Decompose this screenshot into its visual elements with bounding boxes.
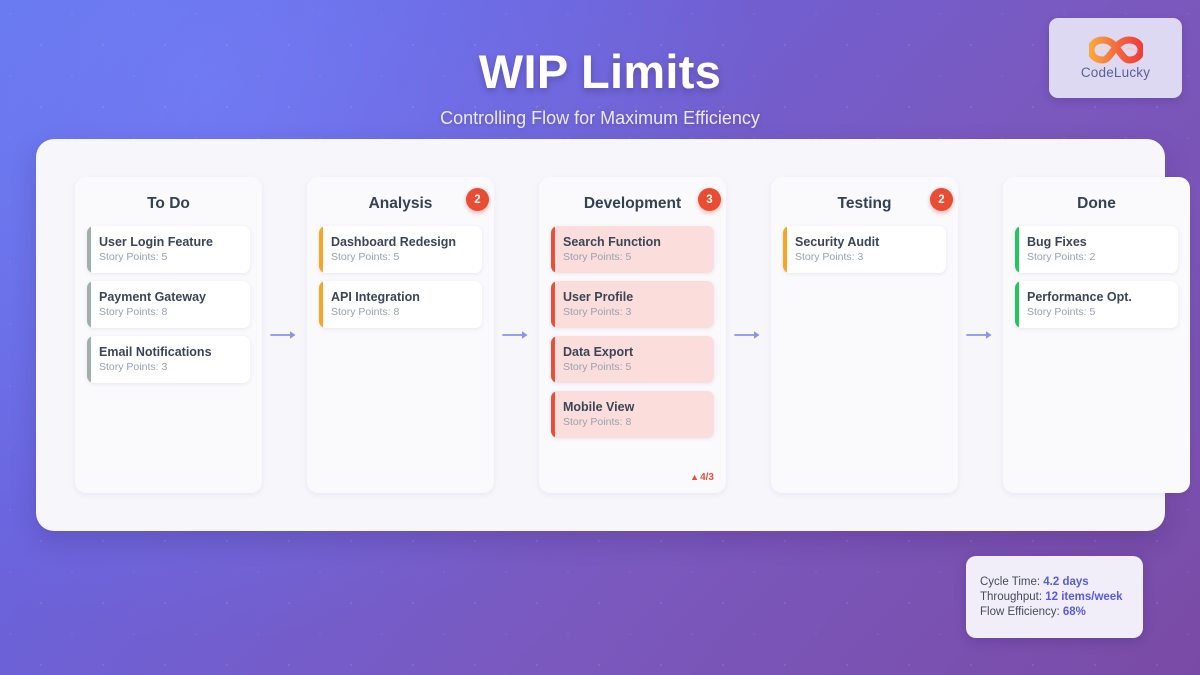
card-title: Payment Gateway (99, 290, 240, 304)
column-header: Testing 2 (783, 189, 946, 219)
kanban-columns: To Do User Login Feature Story Points: 5… (75, 177, 1130, 493)
kanban-card[interactable]: Mobile View Story Points: 8 (551, 391, 714, 438)
kanban-card[interactable]: User Login Feature Story Points: 5 (87, 226, 250, 273)
column-title: To Do (147, 195, 190, 213)
card-list: User Login Feature Story Points: 5 Payme… (87, 226, 250, 383)
kanban-card[interactable]: Dashboard Redesign Story Points: 5 (319, 226, 482, 273)
metric-value: 4.2 days (1043, 576, 1088, 588)
card-list: Bug Fixes Story Points: 2 Performance Op… (1015, 226, 1178, 328)
card-story-points: Story Points: 8 (563, 416, 704, 428)
flow-arrow-3 (726, 177, 771, 493)
card-story-points: Story Points: 5 (331, 251, 472, 263)
card-list: Security Audit Story Points: 3 (783, 226, 946, 273)
kanban-column-testing[interactable]: Testing 2 Security Audit Story Points: 3 (771, 177, 958, 493)
flow-arrow-4 (958, 177, 1003, 493)
kanban-card[interactable]: Bug Fixes Story Points: 2 (1015, 226, 1178, 273)
metric-label: Cycle Time: (980, 576, 1040, 588)
card-story-points: Story Points: 3 (99, 361, 240, 373)
card-list: Search Function Story Points: 5 User Pro… (551, 226, 714, 438)
column-title: Analysis (369, 195, 433, 213)
flow-arrow-1 (262, 177, 307, 493)
column-title: Development (584, 195, 681, 213)
card-title: Security Audit (795, 235, 936, 249)
kanban-card[interactable]: Data Export Story Points: 5 (551, 336, 714, 383)
warning-triangle-icon: ▲ (690, 472, 699, 482)
kanban-card[interactable]: API Integration Story Points: 8 (319, 281, 482, 328)
wip-exceeded-ratio: 4/3 (700, 472, 714, 483)
kanban-board: To Do User Login Feature Story Points: 5… (36, 139, 1165, 531)
card-story-points: Story Points: 5 (563, 361, 704, 373)
column-title: Done (1077, 195, 1116, 213)
metric-label: Flow Efficiency: (980, 606, 1060, 618)
card-title: Bug Fixes (1027, 235, 1168, 249)
wip-limit-badge: 3 (698, 188, 721, 211)
flow-arrow-icon (502, 329, 532, 341)
page-subtitle: Controlling Flow for Maximum Efficiency (0, 108, 1200, 129)
card-story-points: Story Points: 5 (1027, 306, 1168, 318)
card-title: User Profile (563, 290, 704, 304)
metric-label: Throughput: (980, 591, 1042, 603)
card-story-points: Story Points: 5 (563, 251, 704, 263)
card-story-points: Story Points: 3 (795, 251, 936, 263)
column-wrap-testing: Testing 2 Security Audit Story Points: 3 (771, 177, 958, 493)
kanban-card[interactable]: Email Notifications Story Points: 3 (87, 336, 250, 383)
wip-exceeded-warning: ▲4/3 (551, 466, 714, 483)
card-story-points: Story Points: 8 (331, 306, 472, 318)
brand-wordmark: CodeLucky (1081, 65, 1150, 80)
infinity-icon (1089, 36, 1143, 64)
column-title: Testing (838, 195, 892, 213)
metric-cycle-time: Cycle Time: 4.2 days (980, 576, 1129, 588)
flow-arrow-icon (966, 329, 996, 341)
card-title: Data Export (563, 345, 704, 359)
kanban-card[interactable]: User Profile Story Points: 3 (551, 281, 714, 328)
kanban-card[interactable]: Search Function Story Points: 5 (551, 226, 714, 273)
card-title: User Login Feature (99, 235, 240, 249)
card-title: Mobile View (563, 400, 704, 414)
kanban-card[interactable]: Security Audit Story Points: 3 (783, 226, 946, 273)
metric-value: 68% (1063, 606, 1086, 618)
flow-metrics-panel: Cycle Time: 4.2 days Throughput: 12 item… (966, 556, 1143, 638)
column-header: Done (1015, 189, 1178, 219)
slide-canvas: WIP Limits Controlling Flow for Maximum … (0, 0, 1200, 675)
kanban-column-analysis[interactable]: Analysis 2 Dashboard Redesign Story Poin… (307, 177, 494, 493)
column-wrap-analysis: Analysis 2 Dashboard Redesign Story Poin… (307, 177, 494, 493)
kanban-column-development[interactable]: Development 3 Search Function Story Poin… (539, 177, 726, 493)
card-title: Performance Opt. (1027, 290, 1168, 304)
card-title: Dashboard Redesign (331, 235, 472, 249)
kanban-column-todo[interactable]: To Do User Login Feature Story Points: 5… (75, 177, 262, 493)
flow-arrow-2 (494, 177, 539, 493)
card-title: API Integration (331, 290, 472, 304)
column-header: To Do (87, 189, 250, 219)
wip-limit-badge: 2 (930, 188, 953, 211)
page-title: WIP Limits (0, 44, 1200, 99)
kanban-card[interactable]: Performance Opt. Story Points: 5 (1015, 281, 1178, 328)
brand-logo: CodeLucky (1049, 18, 1182, 98)
card-list: Dashboard Redesign Story Points: 5 API I… (319, 226, 482, 328)
kanban-column-done[interactable]: Done Bug Fixes Story Points: 2 Performan… (1003, 177, 1190, 493)
wip-limit-badge: 2 (466, 188, 489, 211)
kanban-card[interactable]: Payment Gateway Story Points: 8 (87, 281, 250, 328)
metric-value: 12 items/week (1045, 591, 1122, 603)
flow-arrow-icon (734, 329, 764, 341)
card-story-points: Story Points: 3 (563, 306, 704, 318)
column-wrap-todo: To Do User Login Feature Story Points: 5… (75, 177, 262, 493)
metric-throughput: Throughput: 12 items/week (980, 591, 1129, 603)
flow-arrow-icon (270, 329, 300, 341)
column-wrap-development: Development 3 Search Function Story Poin… (539, 177, 726, 493)
column-wrap-done: Done Bug Fixes Story Points: 2 Performan… (1003, 177, 1190, 493)
card-story-points: Story Points: 5 (99, 251, 240, 263)
metric-flow-efficiency: Flow Efficiency: 68% (980, 606, 1129, 618)
card-title: Email Notifications (99, 345, 240, 359)
card-title: Search Function (563, 235, 704, 249)
column-header: Development 3 (551, 189, 714, 219)
column-header: Analysis 2 (319, 189, 482, 219)
card-story-points: Story Points: 8 (99, 306, 240, 318)
card-story-points: Story Points: 2 (1027, 251, 1168, 263)
